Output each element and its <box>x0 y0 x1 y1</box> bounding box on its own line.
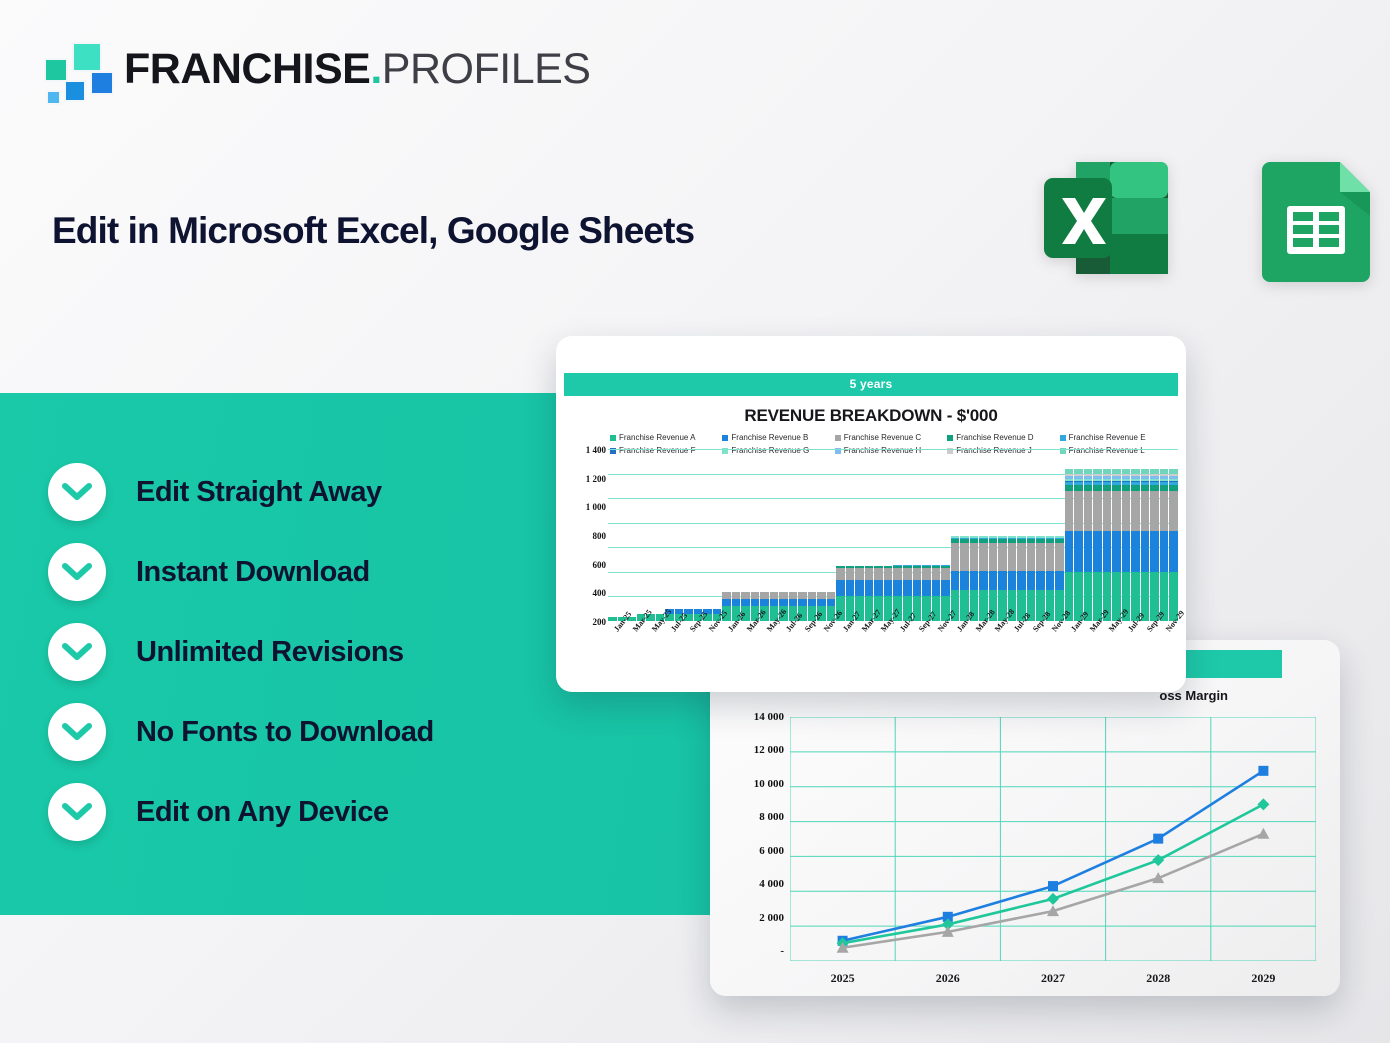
bar-group <box>608 449 1178 621</box>
bar-segment <box>1103 491 1112 532</box>
x-tick <box>846 625 855 677</box>
bar-segment <box>760 599 769 606</box>
y-tick-label: - <box>722 945 784 957</box>
x-tick: Sep-27 <box>913 625 922 677</box>
bar-segment <box>1093 491 1102 532</box>
x-tick <box>827 625 836 677</box>
brand-name-light: PROFILES <box>382 45 591 93</box>
x-tick: Nov-28 <box>1046 625 1055 677</box>
bar-segment <box>789 592 798 599</box>
bar-column <box>1027 536 1036 621</box>
x-tick <box>1036 625 1045 677</box>
line-chart-y-axis: 14 00012 00010 0008 0006 0004 0002 000- <box>722 711 784 957</box>
x-tick: Nov-26 <box>817 625 826 677</box>
brand-name-dot: . <box>370 45 381 93</box>
x-tick <box>922 625 931 677</box>
bar-segment <box>1169 531 1178 572</box>
legend-item: Franchise Revenue B <box>722 433 834 442</box>
x-tick-label: 2029 <box>1211 971 1316 986</box>
bar-segment <box>1122 531 1131 572</box>
feature-item-edit-straight-away[interactable]: Edit Straight Away <box>48 462 434 522</box>
x-tick <box>1112 625 1121 677</box>
x-tick: Sep-26 <box>798 625 807 677</box>
bar-column <box>960 536 969 621</box>
x-tick <box>808 625 817 677</box>
bar-segment <box>827 592 836 599</box>
bar-segment <box>874 568 883 580</box>
bar-column <box>951 536 960 621</box>
bar-segment <box>951 571 960 590</box>
y-tick-label: 1 400 <box>560 445 606 455</box>
bar-column <box>1084 469 1093 621</box>
bar-segment <box>865 568 874 580</box>
feature-list: Edit Straight Away Instant Download Unli… <box>48 462 434 842</box>
bar-segment <box>865 580 874 596</box>
x-tick <box>1169 625 1178 677</box>
bar-segment <box>741 599 750 606</box>
logo-squares-icon <box>44 40 106 98</box>
y-tick-label: 12 000 <box>722 744 784 756</box>
bar-segment <box>846 568 855 580</box>
chevron-down-icon <box>48 463 106 521</box>
x-tick <box>789 625 798 677</box>
legend-item: Franchise Revenue A <box>610 433 722 442</box>
legend-swatch-icon <box>1060 435 1066 441</box>
bar-segment <box>1169 491 1178 532</box>
y-tick-label: 200 <box>560 617 606 627</box>
y-tick-label: 8 000 <box>722 811 784 823</box>
x-tick: Jan-26 <box>722 625 731 677</box>
bar-segment <box>922 568 931 580</box>
bar-segment <box>1150 531 1159 572</box>
bar-segment <box>770 592 779 599</box>
bar-column <box>1160 469 1169 621</box>
bar-segment <box>1055 543 1064 571</box>
bar-segment <box>913 568 922 580</box>
x-tick: Sep-25 <box>684 625 693 677</box>
bar-segment <box>1017 571 1026 590</box>
bar-chart-x-axis: Jan-25Mar-25May-25Jul-25Sep-25Nov-25Jan-… <box>608 625 1178 677</box>
bar-segment <box>989 543 998 571</box>
x-tick: Jul-26 <box>779 625 788 677</box>
bar-segment <box>608 617 617 621</box>
feature-item-unlimited-revisions[interactable]: Unlimited Revisions <box>48 622 434 682</box>
bar-segment <box>732 592 741 599</box>
x-tick: Mar-25 <box>627 625 636 677</box>
bar-segment <box>798 599 807 606</box>
legend-label: Franchise Revenue A <box>619 433 696 442</box>
bar-segment <box>1065 531 1074 572</box>
bar-segment <box>989 571 998 590</box>
bar-segment <box>760 592 769 599</box>
y-tick-label: 2 000 <box>722 912 784 924</box>
x-tick: Nov-29 <box>1160 625 1169 677</box>
bar-column <box>998 536 1007 621</box>
feature-item-no-fonts-to-download[interactable]: No Fonts to Download <box>48 702 434 762</box>
bar-column <box>1141 469 1150 621</box>
x-tick: Jan-29 <box>1065 625 1074 677</box>
x-tick-label: 2027 <box>1000 971 1105 986</box>
data-point-marker <box>1047 893 1059 905</box>
bar-segment <box>722 599 731 606</box>
x-tick <box>998 625 1007 677</box>
x-tick: Jan-25 <box>608 625 617 677</box>
x-tick <box>979 625 988 677</box>
x-tick <box>751 625 760 677</box>
x-tick <box>865 625 874 677</box>
feature-label: Edit Straight Away <box>136 476 382 509</box>
x-tick: Sep-28 <box>1027 625 1036 677</box>
bar-chart-plot-area <box>608 449 1178 621</box>
bar-segment <box>874 580 883 596</box>
bar-column <box>1122 469 1131 621</box>
bar-segment <box>1084 531 1093 572</box>
x-tick <box>884 625 893 677</box>
y-tick-label: 14 000 <box>722 711 784 723</box>
bar-segment <box>884 580 893 596</box>
x-tick <box>713 625 722 677</box>
bar-segment <box>1093 531 1102 572</box>
x-tick: Jul-28 <box>1008 625 1017 677</box>
bar-segment <box>1141 491 1150 532</box>
bar-segment <box>1055 571 1064 590</box>
x-tick: Jan-28 <box>951 625 960 677</box>
legend-label: Franchise Revenue D <box>956 433 1033 442</box>
x-tick-label: 2026 <box>895 971 1000 986</box>
y-tick-label: 4 000 <box>722 878 784 890</box>
data-point-marker <box>1257 798 1269 810</box>
x-tick: Mar-27 <box>855 625 864 677</box>
bar-segment <box>1074 491 1083 532</box>
feature-label: No Fonts to Download <box>136 716 434 749</box>
app-icons-group <box>1040 152 1382 284</box>
bar-column <box>1036 536 1045 621</box>
y-tick-label: 400 <box>560 588 606 598</box>
bar-segment <box>779 599 788 606</box>
feature-item-edit-on-any-device[interactable]: Edit on Any Device <box>48 782 434 842</box>
bar-segment <box>808 592 817 599</box>
y-tick-label: 1 000 <box>560 502 606 512</box>
bar-segment <box>970 571 979 590</box>
x-tick: Mar-29 <box>1084 625 1093 677</box>
bar-segment <box>884 568 893 580</box>
bar-segment <box>1150 491 1159 532</box>
bar-column <box>1131 469 1140 621</box>
x-tick <box>1074 625 1083 677</box>
bar-segment <box>855 568 864 580</box>
bar-segment <box>1103 531 1112 572</box>
x-tick: Jul-25 <box>665 625 674 677</box>
x-tick <box>1055 625 1064 677</box>
bar-segment <box>770 599 779 606</box>
bar-segment <box>1112 531 1121 572</box>
data-point-marker <box>1153 834 1163 844</box>
bar-segment <box>798 592 807 599</box>
bar-segment <box>932 568 941 580</box>
x-tick: Mar-26 <box>741 625 750 677</box>
bar-column <box>1065 469 1074 621</box>
x-tick <box>1150 625 1159 677</box>
microsoft-excel-icon <box>1040 152 1172 284</box>
profit-chart-card: ber 2029 oss Margin 14 00012 00010 0008 … <box>710 640 1340 996</box>
y-tick-label: 600 <box>560 560 606 570</box>
bar-column <box>970 536 979 621</box>
bar-segment <box>1131 531 1140 572</box>
bar-segment <box>1122 491 1131 532</box>
x-tick: Jan-27 <box>836 625 845 677</box>
legend-item: Franchise Revenue D <box>947 433 1059 442</box>
y-tick-label: 800 <box>560 531 606 541</box>
feature-label: Instant Download <box>136 556 370 589</box>
feature-item-instant-download[interactable]: Instant Download <box>48 542 434 602</box>
x-tick: May-28 <box>989 625 998 677</box>
data-point-marker <box>1258 766 1268 776</box>
x-tick <box>1131 625 1140 677</box>
x-tick <box>770 625 779 677</box>
brand-logo: FRANCHISE.PROFILES <box>44 40 590 98</box>
legend-label: Franchise Revenue C <box>844 433 921 442</box>
bar-segment <box>960 571 969 590</box>
x-tick <box>941 625 950 677</box>
chevron-down-icon <box>48 783 106 841</box>
google-sheets-icon <box>1250 152 1382 284</box>
bar-segment <box>903 580 912 596</box>
bar-segment <box>1046 543 1055 571</box>
line-chart: 14 00012 00010 0008 0006 0004 0002 000- … <box>710 709 1340 996</box>
bar-segment <box>1131 491 1140 532</box>
bar-segment <box>932 580 941 596</box>
bar-segment <box>1141 531 1150 572</box>
chevron-down-icon <box>48 623 106 681</box>
bar-segment <box>751 592 760 599</box>
x-tick-label: 2025 <box>790 971 895 986</box>
x-tick: Jul-27 <box>893 625 902 677</box>
bar-segment <box>789 599 798 606</box>
bar-segment <box>779 592 788 599</box>
bar-column <box>608 617 617 621</box>
x-tick <box>732 625 741 677</box>
bar-segment <box>732 599 741 606</box>
bar-column <box>1169 469 1178 621</box>
x-tick: May-25 <box>646 625 655 677</box>
y-tick-label: 10 000 <box>722 778 784 790</box>
data-point-marker <box>1257 828 1269 839</box>
bar-segment <box>836 568 845 580</box>
line-series <box>843 804 1264 943</box>
chevron-down-icon <box>48 543 106 601</box>
bar-segment <box>979 543 988 571</box>
bar-segment <box>1008 571 1017 590</box>
bar-segment <box>951 543 960 571</box>
data-point-marker <box>1048 881 1058 891</box>
bar-column <box>1150 469 1159 621</box>
bar-segment <box>817 592 826 599</box>
legend-item: Franchise Revenue E <box>1060 433 1172 442</box>
bar-column <box>1055 536 1064 621</box>
bar-segment <box>979 571 988 590</box>
bar-segment <box>808 599 817 606</box>
bar-segment <box>722 592 731 599</box>
x-tick <box>1093 625 1102 677</box>
x-tick <box>618 625 627 677</box>
bar-column <box>1046 536 1055 621</box>
legend-swatch-icon <box>947 435 953 441</box>
bar-segment <box>1065 491 1074 532</box>
x-tick: May-29 <box>1103 625 1112 677</box>
bar-segment <box>998 543 1007 571</box>
bar-segment <box>893 580 902 596</box>
x-tick: Sep-29 <box>1141 625 1150 677</box>
legend-item: Franchise Revenue C <box>835 433 947 442</box>
x-tick <box>637 625 646 677</box>
x-tick: May-27 <box>874 625 883 677</box>
bar-segment <box>903 568 912 580</box>
x-tick: Mar-28 <box>970 625 979 677</box>
revenue-chart-card: 5 years REVENUE BREAKDOWN - $'000 Franch… <box>556 336 1186 692</box>
bar-segment <box>1008 543 1017 571</box>
chevron-down-icon <box>48 703 106 761</box>
bar-segment <box>893 568 902 580</box>
line-chart-plot-area <box>790 717 1316 961</box>
x-tick <box>656 625 665 677</box>
x-tick <box>1017 625 1026 677</box>
bar-column <box>1093 469 1102 621</box>
promo-graphic: FRANCHISE.PROFILES Edit in Microsoft Exc… <box>0 0 1390 1043</box>
x-tick-label: 2028 <box>1106 971 1211 986</box>
x-tick: Nov-25 <box>703 625 712 677</box>
x-tick: May-26 <box>760 625 769 677</box>
bar-segment <box>1036 543 1045 571</box>
bar-column <box>1112 469 1121 621</box>
x-tick <box>903 625 912 677</box>
legend-swatch-icon <box>722 435 728 441</box>
revenue-card-band-label: 5 years <box>564 373 1178 396</box>
revenue-chart-title: REVENUE BREAKDOWN - $'000 <box>556 406 1186 426</box>
bar-segment <box>1027 543 1036 571</box>
bar-chart-y-axis: 1 4001 2001 000800600400200 <box>560 445 606 627</box>
x-tick: Jul-29 <box>1122 625 1131 677</box>
bar-segment <box>827 599 836 606</box>
feature-label: Unlimited Revisions <box>136 636 404 669</box>
bar-segment <box>1112 491 1121 532</box>
y-tick-label: 6 000 <box>722 845 784 857</box>
bar-segment <box>846 580 855 596</box>
bar-segment <box>1036 571 1045 590</box>
bar-segment <box>817 599 826 606</box>
y-tick-label: 1 200 <box>560 474 606 484</box>
brand-wordmark: FRANCHISE.PROFILES <box>124 48 590 91</box>
x-tick <box>675 625 684 677</box>
legend-label: Franchise Revenue E <box>1069 433 1146 442</box>
bar-segment <box>1027 571 1036 590</box>
bar-column <box>979 536 988 621</box>
feature-label: Edit on Any Device <box>136 796 389 829</box>
bar-segment <box>855 580 864 596</box>
bar-segment <box>1017 543 1026 571</box>
bar-segment <box>1160 491 1169 532</box>
line-chart-x-axis: 20252026202720282029 <box>790 971 1316 986</box>
bar-segment <box>1160 531 1169 572</box>
bar-segment <box>941 568 950 580</box>
bar-segment <box>741 592 750 599</box>
page-title: Edit in Microsoft Excel, Google Sheets <box>52 210 694 252</box>
bar-column <box>1074 469 1083 621</box>
bar-column <box>1103 469 1112 621</box>
legend-swatch-icon <box>610 435 616 441</box>
bar-segment <box>922 580 931 596</box>
bar-segment <box>941 580 950 596</box>
bar-segment <box>1084 491 1093 532</box>
bar-segment <box>970 543 979 571</box>
bar-chart: 1 4001 2001 000800600400200 Jan-25Mar-25… <box>556 459 1186 639</box>
x-tick: Nov-27 <box>932 625 941 677</box>
x-tick <box>694 625 703 677</box>
bar-segment <box>960 543 969 571</box>
bar-segment <box>1074 531 1083 572</box>
bar-segment <box>751 599 760 606</box>
line-chart-svg <box>790 717 1316 961</box>
bar-column <box>1017 536 1026 621</box>
legend-swatch-icon <box>835 435 841 441</box>
bar-segment <box>998 571 1007 590</box>
legend-label: Franchise Revenue B <box>731 433 808 442</box>
bar-segment <box>1046 571 1055 590</box>
x-tick <box>960 625 969 677</box>
bar-segment <box>836 580 845 596</box>
bar-segment <box>913 580 922 596</box>
brand-name-bold: FRANCHISE <box>124 45 370 93</box>
